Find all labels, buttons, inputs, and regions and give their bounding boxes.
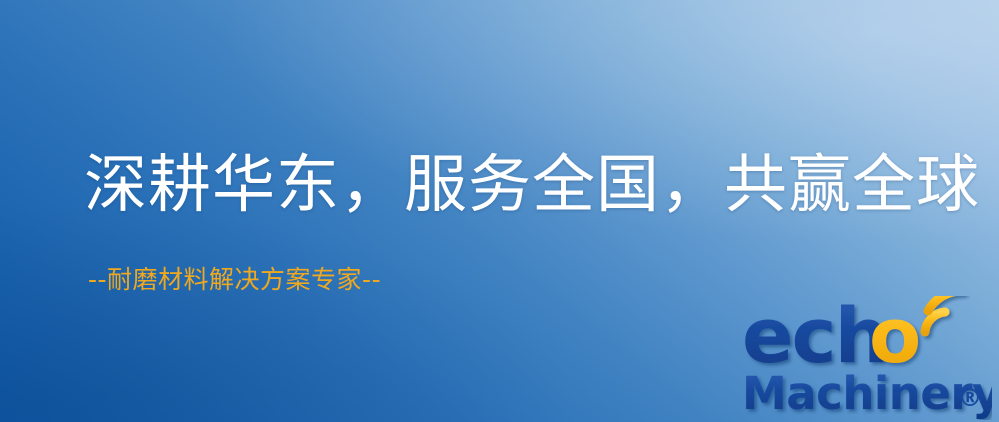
svg-text:Machinery: Machinery xyxy=(742,367,992,420)
echo-machinery-logo[interactable]: ech o Machinery ® xyxy=(742,296,992,420)
banner-headline: 深耕华东，服务全国，共赢全球 xyxy=(84,152,980,218)
registered-trademark-icon: ® xyxy=(958,384,982,412)
logo-tagline: Machinery xyxy=(742,367,992,420)
signal-arcs-icon xyxy=(925,296,962,332)
svg-text:®: ® xyxy=(958,384,982,412)
banner-subtitle: --耐磨材料解决方案专家-- xyxy=(88,266,381,294)
hero-banner: 深耕华东，服务全国，共赢全球 --耐磨材料解决方案专家-- xyxy=(0,0,999,422)
